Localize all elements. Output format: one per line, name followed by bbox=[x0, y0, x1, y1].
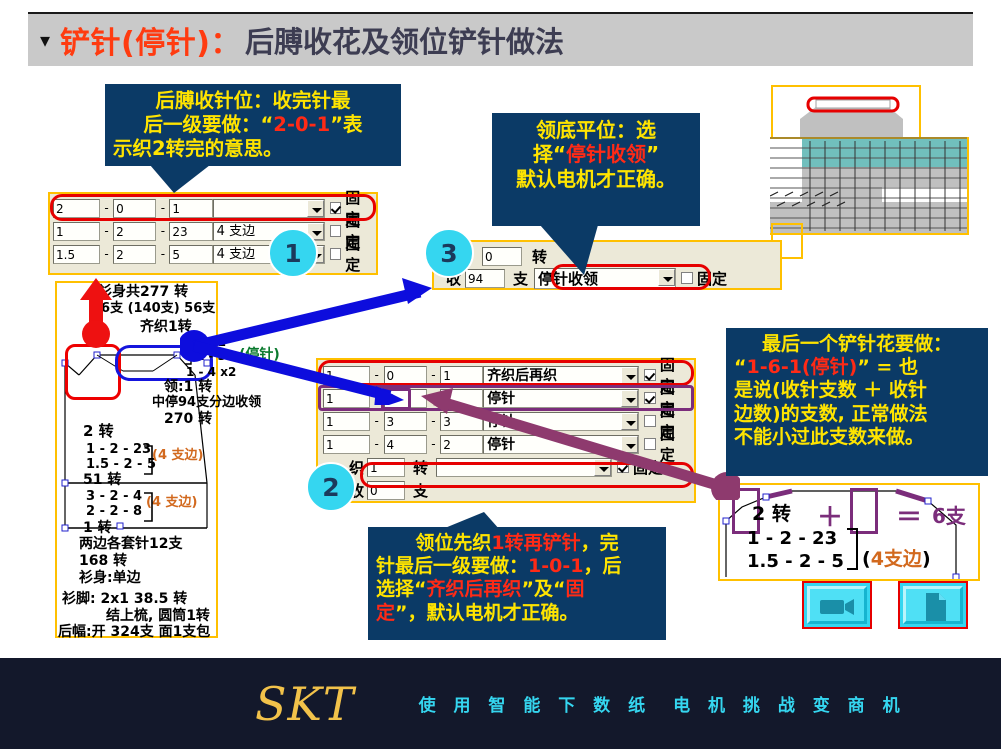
video-camera-icon bbox=[820, 597, 858, 617]
formula-paren-open: ( bbox=[862, 548, 871, 570]
diagram-label: 后幅:开 324支 面1支包 bbox=[58, 625, 210, 639]
diagram-label: 衫脚: 2x1 38.5 转 bbox=[62, 592, 187, 606]
chevron-down-icon[interactable] bbox=[658, 269, 675, 286]
formula-paren-close: ) bbox=[922, 548, 931, 570]
row0-b[interactable]: 0 bbox=[113, 199, 156, 218]
formula-eq: ＝ bbox=[896, 497, 922, 534]
table-row[interactable]: 1.5 - 2 - 5 4 支边 固定 bbox=[53, 243, 373, 265]
callout-right-line2: “1-6-1(停针)” = 也 bbox=[734, 356, 980, 379]
callout-top-mid-tail bbox=[540, 225, 620, 277]
dash: - bbox=[156, 224, 169, 238]
video-button[interactable] bbox=[802, 581, 872, 629]
step-bubble-3: 3 bbox=[424, 228, 474, 278]
slogan-part-a: 使 用 智 能 下 数 纸 bbox=[419, 696, 652, 716]
neck-shou-value[interactable]: 94 bbox=[465, 269, 505, 288]
callout-top-left-line2: 后一级要做：“2-0-1”表 bbox=[113, 113, 393, 137]
callout-right-line4: 边数)的支数, 正常做法 bbox=[734, 403, 980, 426]
arrow-up-red bbox=[78, 278, 114, 356]
mrow0-select[interactable]: 齐织后再织 bbox=[483, 366, 639, 385]
checkbox[interactable] bbox=[330, 248, 341, 260]
step-bubble-2: 2 bbox=[306, 462, 356, 512]
callout-right-line3: 是说(收针支数 ＋ 收针 bbox=[734, 379, 980, 402]
arrow-blue-group bbox=[180, 270, 455, 405]
callout-bottom-line4: 定”，默认电机才正确。 bbox=[376, 602, 658, 625]
brand-logo: SKT bbox=[255, 677, 355, 731]
mrow3-a[interactable]: 1 bbox=[323, 435, 370, 454]
diagram-label: 2 转 bbox=[83, 424, 114, 439]
chevron-down-icon: ▾ bbox=[40, 30, 50, 50]
row2-a[interactable]: 1.5 bbox=[53, 245, 100, 264]
callout-bottom-line1: 领位先织1转再铲针，完 bbox=[376, 532, 658, 555]
checkbox[interactable] bbox=[330, 225, 341, 237]
table-row[interactable]: 1 - 2 - 23 4 支边 固定 bbox=[53, 220, 373, 242]
diagram-label: 168 转 bbox=[79, 554, 127, 568]
checkbox[interactable] bbox=[681, 272, 693, 284]
knit-chart-thumbnail bbox=[770, 84, 995, 259]
row1-c[interactable]: 23 bbox=[169, 222, 212, 241]
diagram-label: 1 - 2 - 23 bbox=[86, 443, 151, 456]
callout-right-line5: 不能小过此支数来做。 bbox=[734, 426, 980, 449]
neck-zhi-label: 支 bbox=[513, 268, 528, 289]
diagram-label: 两边各套针12支 bbox=[79, 537, 182, 551]
dash: - bbox=[100, 201, 113, 215]
panel-shoulder-rows: 2 - 0 - 1 固定 1 - 2 - 23 4 支边 固定 1.5 - 2 bbox=[48, 192, 378, 275]
diagram-label: (4 支边) bbox=[152, 449, 203, 462]
callout-top-left-tail bbox=[150, 165, 220, 195]
formula-line2: 1.5 - 2 - 5 bbox=[747, 551, 844, 572]
formula-unit: 支边 bbox=[884, 548, 922, 570]
callout-top-left: 后膊收针位：收完针最 后一级要做：“2-0-1”表 示织2转完的意思。 bbox=[105, 84, 401, 166]
callout-bottom-line2: 针最后一级要做：1-0-1，后 bbox=[376, 555, 658, 578]
formula-result: 6支 bbox=[932, 500, 966, 529]
diagram-label: 1 转 bbox=[83, 521, 112, 535]
chevron-down-icon[interactable] bbox=[307, 200, 324, 217]
callout-top-mid-line3: 默认电机才正确。 bbox=[500, 167, 692, 191]
formula-line1: 1 - 2 - 23 bbox=[747, 528, 837, 549]
callout-right-line1: 最后一个铲针花要做： bbox=[734, 333, 980, 356]
callout-top-mid: 领底平位：选 择“停针收领” 默认电机才正确。 bbox=[492, 113, 700, 226]
diagram-label: 3 - 2 - 4 bbox=[86, 490, 142, 503]
formula-bracket bbox=[845, 527, 863, 573]
row0-c[interactable]: 1 bbox=[169, 199, 212, 218]
row2-b[interactable]: 2 bbox=[113, 245, 156, 264]
diagram-label: 结上梳, 圆筒1转 bbox=[106, 609, 210, 623]
step-bubble-1: 1 bbox=[268, 228, 318, 278]
page-title-red: 铲针(停针)： bbox=[60, 18, 241, 62]
row1-b[interactable]: 2 bbox=[113, 222, 156, 241]
checkbox[interactable] bbox=[330, 202, 341, 214]
diagram-label: (4 支边) bbox=[146, 496, 197, 509]
formula-num: 4 bbox=[871, 548, 884, 570]
page-title: 后膊收花及领位铲针做法 bbox=[245, 19, 564, 61]
formula-paren-group: (4支边) bbox=[862, 544, 931, 571]
dash: - bbox=[100, 224, 113, 238]
chevron-down-icon[interactable] bbox=[621, 367, 638, 384]
row0-select[interactable] bbox=[213, 199, 325, 218]
document-button[interactable] bbox=[898, 581, 968, 629]
document-icon bbox=[924, 592, 948, 622]
mrow2-a[interactable]: 1 bbox=[323, 412, 370, 431]
page-footer: SKT 使 用 智 能 下 数 纸电 机 挑 战 变 商 机 bbox=[0, 658, 1001, 749]
page-header: ▾ 铲针(停针)： 后膊收花及领位铲针做法 bbox=[28, 12, 973, 66]
diagram-label: 1.5 - 2 - 5 bbox=[86, 458, 156, 471]
formula-a: 2 转 bbox=[752, 499, 791, 526]
callout-bottom-line3: 选择“齐织后再织”及“固 bbox=[376, 578, 658, 601]
dash: - bbox=[370, 414, 384, 428]
arrow-purple bbox=[395, 388, 740, 500]
callout-top-mid-line1: 领底平位：选 bbox=[500, 118, 692, 142]
slogan-part-b: 电 机 挑 战 变 商 机 bbox=[673, 696, 906, 716]
diagram-label: 51 转 bbox=[83, 473, 121, 487]
dash: - bbox=[100, 247, 113, 261]
dash: - bbox=[156, 247, 169, 261]
diagram-label: 衫身:单边 bbox=[79, 571, 141, 585]
callout-bottom: 领位先织1转再铲针，完 针最后一级要做：1-0-1，后 选择“齐织后再织”及“固… bbox=[368, 527, 666, 640]
dash: - bbox=[156, 201, 169, 215]
checkbox[interactable] bbox=[644, 369, 656, 381]
row2-fixed[interactable]: 固定 bbox=[330, 233, 373, 275]
footer-slogan: 使 用 智 能 下 数 纸电 机 挑 战 变 商 机 bbox=[397, 691, 906, 716]
callout-top-left-line1: 后膊收针位：收完针最 bbox=[113, 89, 393, 113]
dash: - bbox=[370, 437, 384, 451]
diagram-label: 2 - 2 - 8 bbox=[86, 505, 142, 518]
row0-a[interactable]: 2 bbox=[53, 199, 100, 218]
neck-fixed[interactable]: 固定 bbox=[681, 268, 727, 289]
callout-top-left-line3: 示织2转完的意思。 bbox=[113, 137, 393, 161]
neck-turns-value[interactable]: 0 bbox=[482, 247, 522, 266]
row2-c[interactable]: 5 bbox=[169, 245, 212, 264]
diagram-label: 270 转 bbox=[164, 412, 212, 426]
callout-right: 最后一个铲针花要做： “1-6-1(停针)” = 也 是说(收针支数 ＋ 收针 … bbox=[726, 328, 988, 476]
table-row[interactable]: 2 - 0 - 1 固定 bbox=[53, 197, 373, 219]
callout-top-mid-line2: 择“停针收领” bbox=[500, 142, 692, 166]
row1-a[interactable]: 1 bbox=[53, 222, 100, 241]
